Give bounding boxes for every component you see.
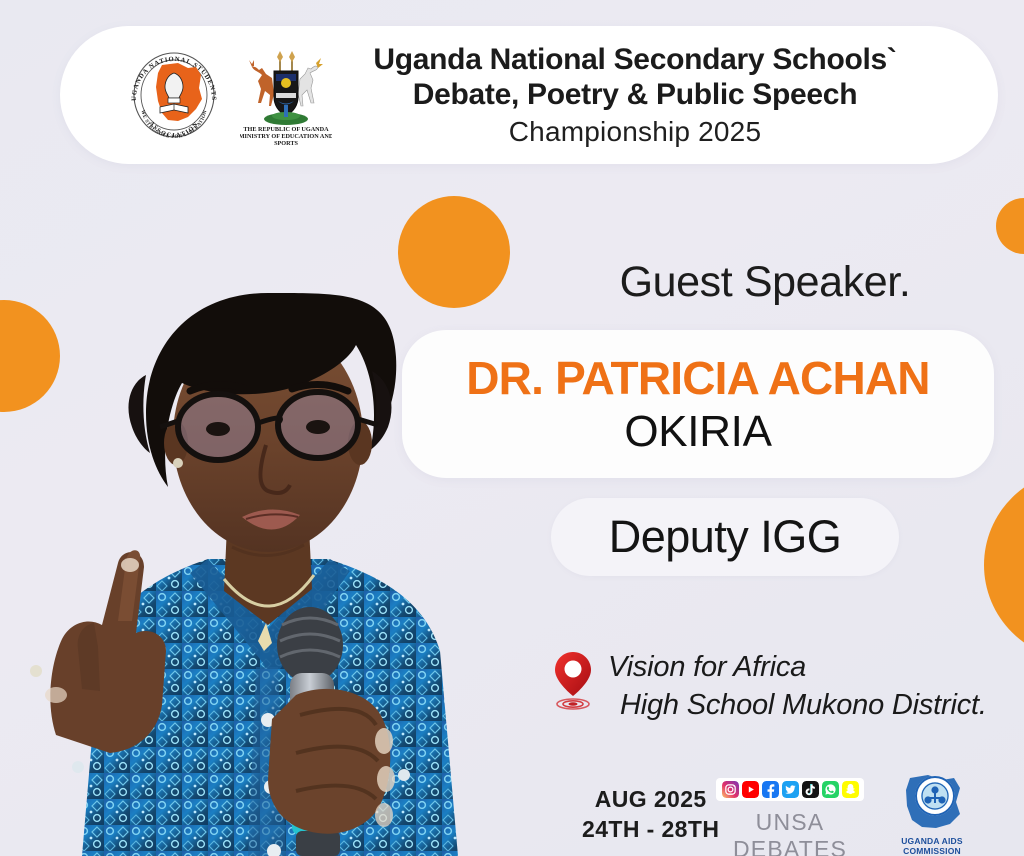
uganda-aids-commission-logo	[894, 772, 970, 830]
unsa-logo: UGANDA NATIONAL STUDENTS WE STRUGGLE FOR…	[122, 43, 226, 147]
event-title-line2: Debate, Poetry & Public Speech	[332, 77, 938, 112]
venue-line1: Vision for Africa	[608, 648, 987, 686]
speaker-role-badge: Deputy IGG	[551, 498, 899, 576]
tiktok-icon[interactable]	[802, 781, 819, 798]
uganda-aids-commission-caption: UGANDA AIDS COMMISSION	[872, 836, 992, 856]
guest-speaker-label: Guest Speaker.	[530, 258, 1000, 307]
youtube-icon[interactable]	[742, 781, 759, 798]
speaker-photo	[0, 175, 560, 856]
whatsapp-icon[interactable]	[822, 781, 839, 798]
header-banner: UGANDA NATIONAL STUDENTS WE STRUGGLE FOR…	[60, 26, 998, 164]
event-poster: UGANDA NATIONAL STUDENTS WE STRUGGLE FOR…	[0, 0, 1024, 856]
instagram-icon[interactable]	[722, 781, 739, 798]
social-icons-row	[716, 778, 864, 801]
decorative-circle-right-top	[996, 198, 1024, 254]
location-pin-icon	[552, 650, 594, 712]
venue-text: Vision for Africa High School Mukono Dis…	[608, 648, 987, 725]
event-title-line1: Uganda National Secondary Schools`	[332, 42, 938, 77]
venue-block: Vision for Africa High School Mukono Dis…	[552, 648, 987, 725]
ministry-caption-line1: THE REPUBLIC OF UGANDA	[243, 126, 329, 133]
event-title-line3: Championship 2025	[332, 115, 938, 148]
decorative-circle-right-large	[984, 470, 1024, 660]
venue-line2: High School Mukono District.	[608, 686, 987, 724]
speaker-name-surname: OKIRIA	[624, 407, 771, 457]
event-day-range: 24TH - 28TH	[582, 814, 719, 844]
uganda-aids-commission-block: UGANDA AIDS COMMISSION	[872, 772, 992, 856]
twitter-icon[interactable]	[782, 781, 799, 798]
unsa-debates-handle: UNSA DEBATES	[716, 809, 864, 856]
speaker-portrait-illustration	[0, 175, 560, 856]
event-title-block: Uganda National Secondary Schools` Debat…	[332, 42, 998, 149]
event-month: AUG 2025	[582, 784, 719, 814]
event-dates: AUG 2025 24TH - 28TH	[582, 784, 719, 845]
speaker-name-card: DR. PATRICIA ACHAN OKIRIA	[402, 330, 994, 478]
ministry-of-education-logo: THE REPUBLIC OF UGANDA MINISTRY OF EDUCA…	[240, 43, 332, 147]
facebook-icon[interactable]	[762, 781, 779, 798]
social-block: UNSA DEBATES	[716, 778, 864, 856]
snapchat-icon[interactable]	[842, 781, 859, 798]
ministry-caption-line2: MINISTRY OF EDUCATION AND	[240, 133, 332, 140]
ministry-caption-line3: SPORTS	[274, 140, 298, 147]
speaker-name-primary: DR. PATRICIA ACHAN	[466, 351, 929, 405]
logo-group: UGANDA NATIONAL STUDENTS WE STRUGGLE FOR…	[122, 43, 332, 147]
